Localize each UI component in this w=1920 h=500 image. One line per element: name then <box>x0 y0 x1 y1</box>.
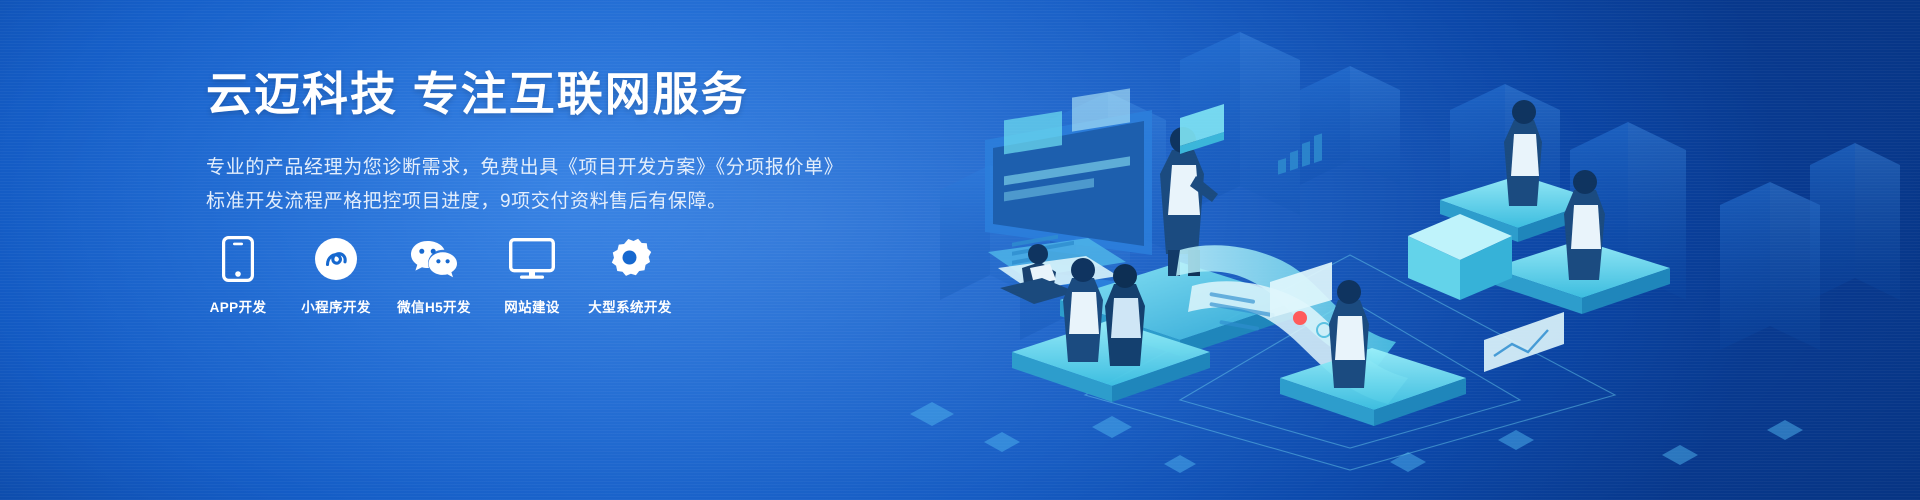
hero-banner: 云迈科技 专注互联网服务 专业的产品经理为您诊断需求，免费出具《项目开发方案》《… <box>0 0 1920 500</box>
page-title: 云迈科技 专注互联网服务 <box>206 66 926 124</box>
wechat-icon <box>409 236 459 282</box>
service-item-large-system[interactable]: 大型系统开发 <box>592 236 668 316</box>
illustration <box>880 0 1920 500</box>
mobile-phone-icon <box>222 236 254 282</box>
gear-icon <box>607 236 653 282</box>
floating-line-panel <box>1484 312 1564 372</box>
service-item-wechat[interactable]: 微信H5开发 <box>396 236 472 316</box>
service-item-miniprogram[interactable]: 小程序开发 <box>298 236 374 316</box>
service-label: APP开发 <box>210 296 267 316</box>
subtitle-line-1: 专业的产品经理为您诊断需求，免费出具《项目开发方案》《分项报价单》 <box>206 152 926 184</box>
service-label: 大型系统开发 <box>588 296 671 316</box>
person-lower-right <box>1329 280 1369 388</box>
service-item-app[interactable]: APP开发 <box>200 236 276 316</box>
service-label: 微信H5开发 <box>397 296 471 316</box>
step-platform-lower-right <box>1280 348 1466 426</box>
service-label: 网站建设 <box>504 296 560 316</box>
mini-program-icon <box>314 236 358 282</box>
service-item-website[interactable]: 网站建设 <box>494 236 570 316</box>
copy-block: 云迈科技 专注互联网服务 专业的产品经理为您诊断需求，免费出具《项目开发方案》《… <box>206 66 926 218</box>
service-label: 小程序开发 <box>301 296 371 316</box>
monitor-icon <box>509 236 555 282</box>
service-list: APP开发 小程序开发 微信 <box>200 236 668 316</box>
subtitle-line-2: 标准开发流程严格把控项目进度，9项交付资料售后有保障。 <box>206 186 926 218</box>
